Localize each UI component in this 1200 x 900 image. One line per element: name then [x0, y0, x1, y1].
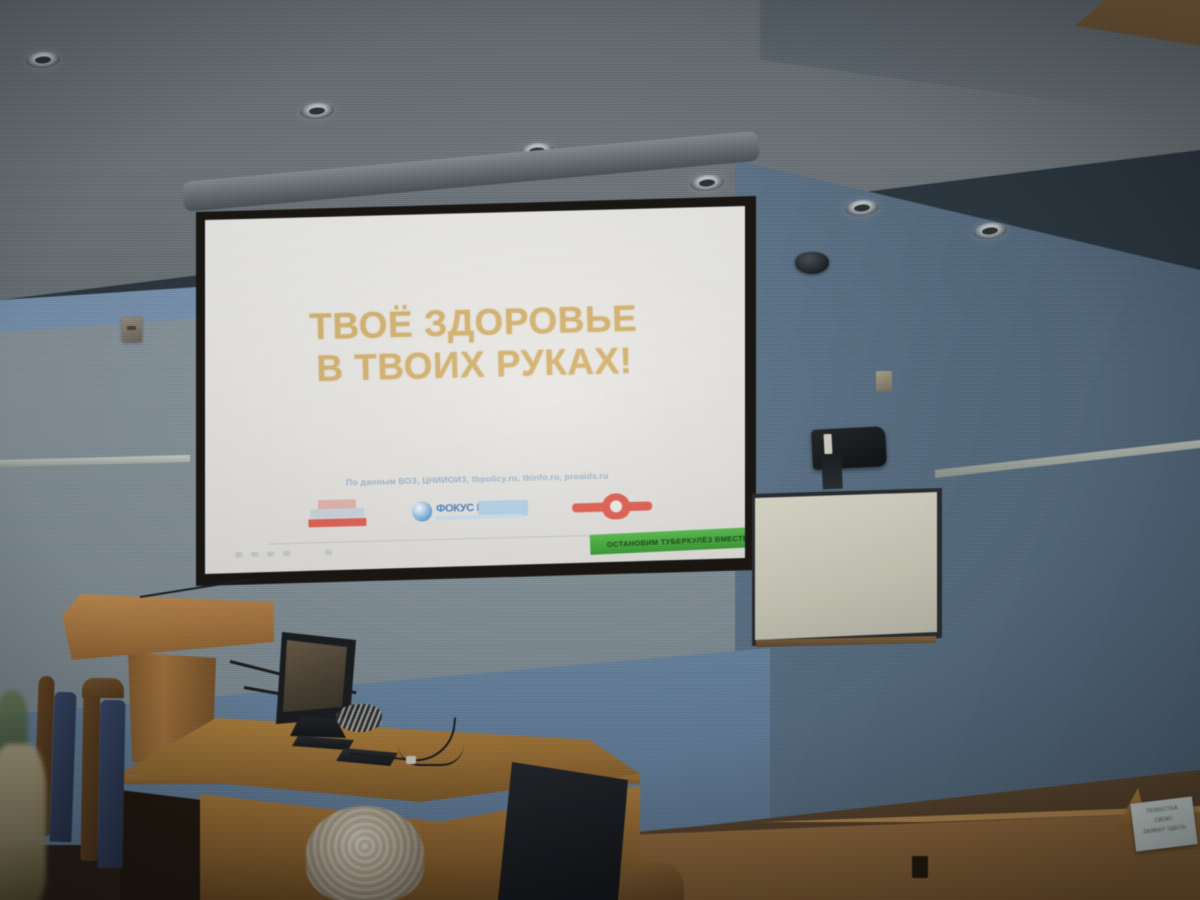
green-banner-text: ОСТАНОВИМ ТУБЕРКУЛЁЗ ВМЕСТЕ [607, 533, 745, 549]
foreground-blur-object [0, 744, 46, 900]
chair-crest-rail [82, 678, 124, 699]
cable-plug [406, 756, 416, 764]
podium-microphone [140, 578, 260, 600]
slide-title-line-1: ТВОЁ ЗДОРОВЬЕ [309, 298, 638, 348]
projection-screen-surface: ТВОЁ ЗДОРОВЬЕ В ТВОИХ РУКАХ! По данным В… [205, 206, 745, 574]
whiteboard-surface [755, 492, 937, 640]
audience-member-hair-texture [306, 806, 424, 900]
dome-camera-icon [795, 252, 829, 274]
mounted-unit-highlight [823, 434, 832, 454]
wall-fixture-left [122, 317, 142, 342]
stage-paper-sign: ПОВЕСТКА СВОЮ ЗАЯВКУ ЗДЕСЬ [1130, 796, 1197, 851]
desk-monitor-screen [283, 640, 347, 712]
presentation-slide: ТВОЁ ЗДОРОВЬЕ В ТВОИХ РУКАХ! По данным В… [205, 206, 745, 574]
logo-fokus-media: ФОКУС МЕДИА [412, 497, 531, 524]
wall-outlet [912, 856, 928, 878]
chrome-tick[interactable] [283, 551, 290, 556]
chair-upholstery [98, 700, 126, 868]
chrome-tick[interactable] [235, 552, 242, 557]
wall-fixture-right [876, 371, 892, 391]
chrome-tick[interactable] [325, 550, 332, 555]
slide-title: ТВОЁ ЗДОРОВЬЕ В ТВОИХ РУКАХ! [205, 295, 745, 393]
slide-subtitle: По данным ВОЗ, ЦНИИОИЗ, tbpolicy.ru, tbi… [207, 467, 745, 491]
slide-logo-row: ФОКУС МЕДИА [208, 489, 745, 531]
chair-dark-foreground [498, 762, 628, 900]
logo-partner-1 [304, 499, 371, 529]
chrome-tick[interactable] [267, 551, 274, 556]
lecture-hall-photo: ТВОЁ ЗДОРОВЬЕ В ТВОИХ РУКАХ! По данным В… [0, 0, 1200, 900]
globe-icon [412, 501, 433, 522]
wall-right [735, 130, 1200, 850]
logo-partner-3 [572, 492, 653, 520]
mounted-unit-bracket [821, 454, 843, 489]
chair-wooden-foreground [620, 862, 684, 900]
chrome-tick[interactable] [251, 552, 258, 557]
slide-title-line-2: В ТВОИХ РУКАХ! [205, 337, 745, 393]
